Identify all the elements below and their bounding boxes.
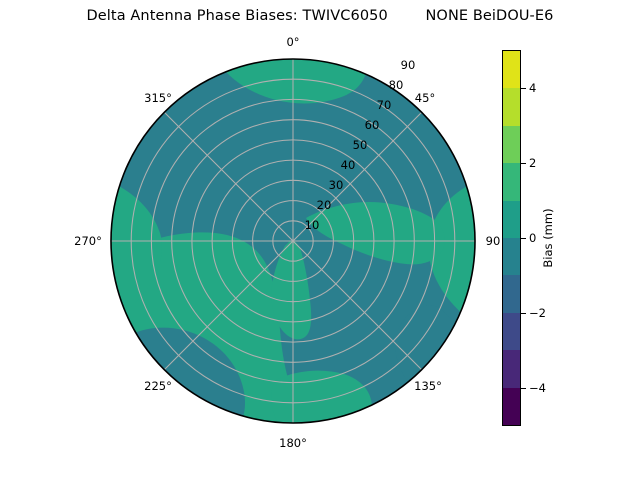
angular-label-225: 225° [144, 379, 172, 393]
colorbar-band-9 [503, 51, 520, 88]
colorbar-ticklabel-neg2: −2 [529, 306, 546, 320]
colorbar-band-0 [503, 388, 520, 425]
colorbar: 4 2 0 −2 −4 [502, 50, 521, 426]
colorbar-band-3 [503, 275, 520, 312]
colorbar-band-8 [503, 88, 520, 125]
radial-label-10: 10 [305, 218, 320, 232]
colorbar-tick-4 [521, 88, 526, 89]
colorbar-band-4 [503, 238, 520, 275]
polar-plot-svg [110, 58, 476, 424]
radial-label-50: 50 [353, 138, 368, 152]
radial-label-70: 70 [377, 98, 392, 112]
figure-title: Delta Antenna Phase Biases: TWIVC6050 NO… [0, 8, 640, 24]
radial-label-40: 40 [341, 158, 356, 172]
radial-label-80: 80 [389, 78, 404, 92]
angular-label-180: 180° [279, 436, 307, 450]
angular-label-315: 315° [144, 91, 172, 105]
colorbar-tick-neg2 [521, 313, 526, 314]
colorbar-band-5 [503, 201, 520, 238]
radial-label-90: 90 [401, 58, 416, 72]
radial-label-20: 20 [317, 198, 332, 212]
colorbar-axis-label: Bias (mm) [541, 208, 555, 267]
angular-label-135: 135° [414, 379, 442, 393]
colorbar-band-1 [503, 350, 520, 387]
colorbar-ticklabel-0: 0 [529, 231, 536, 245]
colorbar-band-6 [503, 163, 520, 200]
angular-label-45: 45° [415, 91, 435, 105]
polar-angular-gridlines [111, 59, 475, 423]
figure-canvas: Delta Antenna Phase Biases: TWIVC6050 NO… [0, 0, 640, 480]
colorbar-gradient [502, 50, 521, 426]
angular-label-0: 0° [286, 35, 299, 49]
radial-label-30: 30 [329, 178, 344, 192]
angular-label-270: 270° [74, 234, 102, 248]
polar-axes: 0° 45° 90 135° 180° 225° 270° 315° 10 20… [110, 58, 476, 424]
colorbar-ticklabel-4: 4 [529, 81, 536, 95]
colorbar-tick-neg4 [521, 388, 526, 389]
colorbar-tick-0 [521, 238, 526, 239]
colorbar-ticklabel-neg4: −4 [529, 381, 546, 395]
colorbar-tick-2 [521, 163, 526, 164]
colorbar-band-2 [503, 313, 520, 350]
angular-label-90: 90 [486, 234, 501, 248]
colorbar-band-7 [503, 126, 520, 163]
colorbar-ticklabel-2: 2 [529, 156, 536, 170]
radial-label-60: 60 [365, 118, 380, 132]
